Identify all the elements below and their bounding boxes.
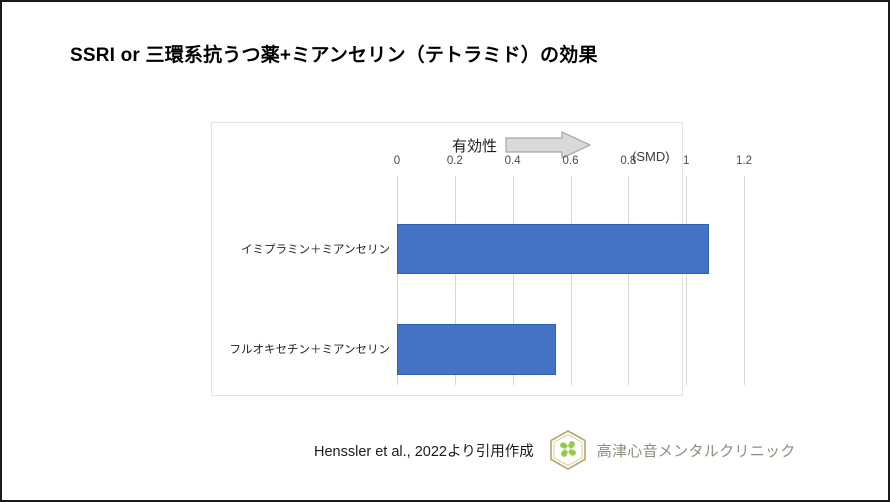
category-label-imipramine: イミプラミン＋ミアンセリン (241, 241, 397, 257)
clinic-brand: 高津心音メンタルクリニック (548, 429, 796, 471)
bar-fluoxetine (397, 324, 556, 374)
x-tick-0.8: 0.8 (620, 155, 636, 167)
chart-container: 有効性 (SMD) 0 0.2 0.4 0.6 0.8 1 1.2 イミプラミン… (211, 122, 683, 396)
x-tick-1.2: 1.2 (736, 155, 752, 167)
x-tick-0: 0 (394, 155, 400, 167)
gridline-1 (686, 176, 687, 385)
x-axis-tick-labels: 0 0.2 0.4 0.6 0.8 1 1.2 (397, 155, 744, 173)
page-title: SSRI or 三環系抗うつ薬+ミアンセリン（テトラミド）の効果 (70, 40, 598, 67)
x-tick-0.4: 0.4 (505, 155, 521, 167)
gridline-1.2 (744, 176, 745, 385)
efficacy-label: 有効性 (452, 135, 497, 156)
plot-area (397, 176, 744, 385)
citation-text: Henssler et al., 2022より引用作成 (314, 440, 534, 461)
gridline-0.8 (628, 176, 629, 385)
category-label-fluoxetine: フルオキセチン＋ミアンセリン (229, 341, 397, 357)
gridline-0.6 (571, 176, 572, 385)
slide: SSRI or 三環系抗うつ薬+ミアンセリン（テトラミド）の効果 有効性 (SM… (0, 0, 890, 502)
bar-imipramine (397, 224, 709, 274)
footer: Henssler et al., 2022より引用作成 高津心音メンタルクリニッ… (314, 429, 796, 471)
x-tick-1: 1 (683, 155, 689, 167)
clinic-logo-icon (548, 429, 588, 471)
x-tick-0.2: 0.2 (447, 155, 463, 167)
x-tick-0.6: 0.6 (563, 155, 579, 167)
clinic-name: 高津心音メンタルクリニック (597, 440, 796, 461)
y-axis-category-labels: イミプラミン＋ミアンセリン フルオキセチン＋ミアンセリン (212, 176, 397, 385)
